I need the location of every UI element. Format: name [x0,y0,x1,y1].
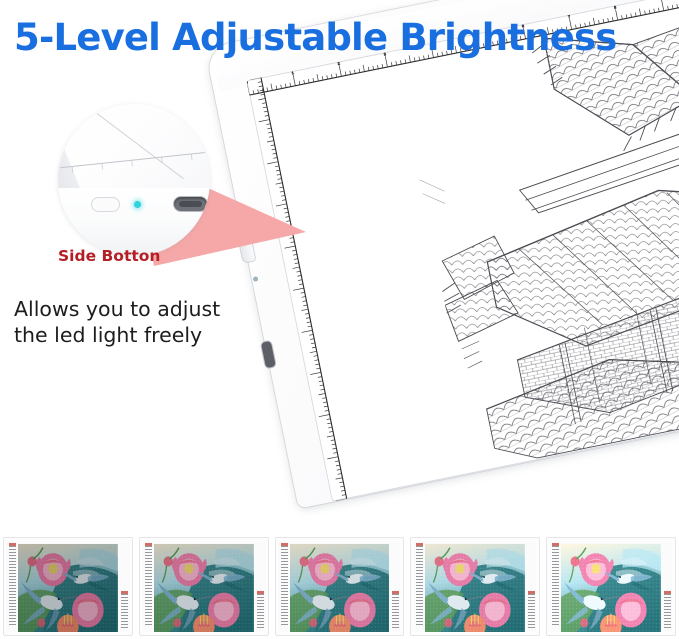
thumbnail-ruler-left [416,546,423,625]
light-pad-surface: 012345678910 [246,0,679,502]
thumbnail-ruler-right [392,594,399,629]
thumbnail-brightness-level-4[interactable] [410,537,540,636]
thumbnail-artwork [18,544,118,632]
thumbnail-brightness-level-3[interactable] [275,537,405,636]
thumbnail-artwork [154,544,254,632]
led-indicator [253,276,259,282]
body-copy: Allows you to adjust the led light freel… [14,296,220,348]
light-pad-illustration: 012345678910 [205,48,679,518]
thumbnail-artwork [561,544,661,632]
svg-text:8: 8 [614,5,617,9]
brightness-scale: 0% 100% [0,458,679,524]
thumbnail-brightness-level-2[interactable] [139,537,269,636]
ruler-left [246,77,347,502]
body-copy-line-1: Allows you to adjust [14,296,220,322]
led-indicator-closeup [134,201,141,208]
side-button-label: Side Botton [58,247,160,265]
thumbnail-artwork [425,544,525,632]
thumbnail-ruler-left [145,546,152,625]
brightness-level-thumbnail-strip [0,537,679,639]
usb-c-port [261,341,276,368]
svg-text:2: 2 [337,62,340,66]
thumbnail-ruler-right [528,594,535,629]
page-title: 5-Level Adjustable Brightness [14,16,616,59]
thumbnail-ruler-left [9,546,16,625]
magnified-ruler [60,149,210,175]
body-copy-line-2: the led light freely [14,322,220,348]
thumbnail-ruler-left [552,546,559,625]
magnifier-circle [58,104,210,256]
thumbnail-brightness-level-1[interactable] [3,537,133,636]
thumbnail-ruler-left [281,546,288,625]
thumbnail-ruler-right [664,594,671,629]
usb-c-port-closeup [174,197,207,211]
svg-text:1: 1 [291,71,294,75]
thumbnail-brightness-level-5[interactable] [546,537,676,636]
side-button-closeup[interactable] [92,198,119,211]
thumbnail-ruler-right [257,594,264,629]
main-promo-panel: 012345678910 [0,0,679,533]
roof-line-art [395,0,679,472]
thumbnail-ruler-right [121,594,128,629]
thumbnail-artwork [290,544,390,632]
